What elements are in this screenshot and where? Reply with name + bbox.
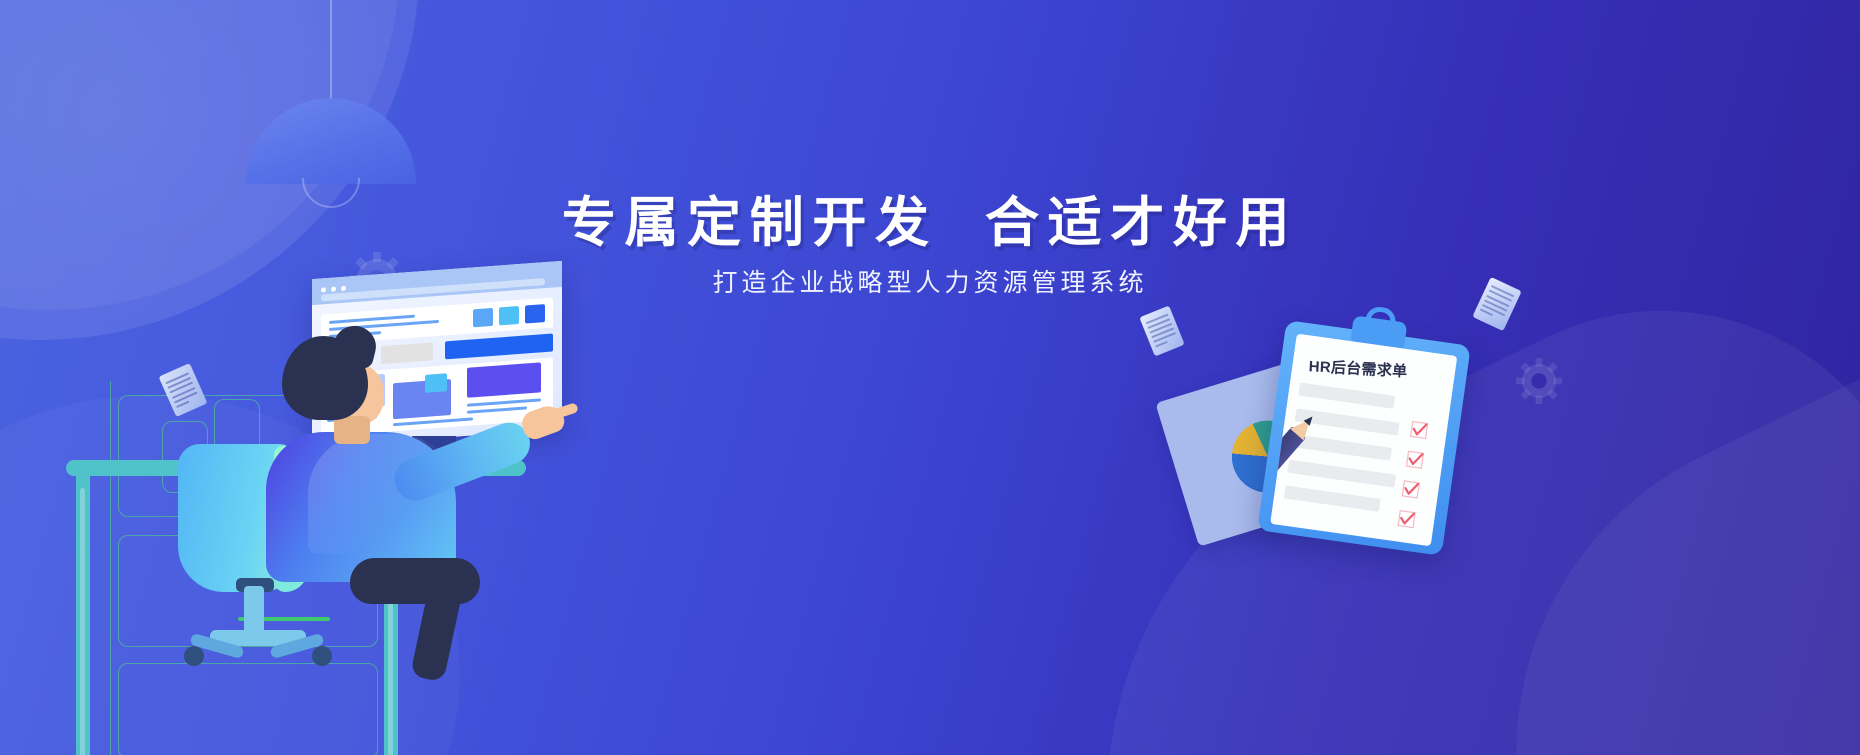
- blueprint-rect: [118, 663, 378, 755]
- desk-leg-highlight: [80, 488, 85, 755]
- checklist-line: [1287, 460, 1396, 488]
- clipboard-paper: HR后台需求单: [1270, 334, 1457, 547]
- checkmark-icon: [1405, 450, 1424, 469]
- document-icon: [1472, 277, 1521, 331]
- checklist-line: [1291, 434, 1392, 461]
- person-neck: [334, 416, 370, 444]
- checklist-line: [1298, 382, 1395, 408]
- clipboard-title: HR后台需求单: [1308, 355, 1439, 383]
- checklist-line: [1284, 485, 1381, 511]
- desk-scene-illustration: [60, 270, 700, 755]
- checkmark-icon: [1401, 480, 1420, 499]
- person-pointing-finger: [551, 402, 579, 420]
- person-illustration: [230, 290, 560, 620]
- gear-icon: [1516, 358, 1562, 404]
- hero-banner: 专属定制开发 合适才好用 打造企业战略型人力资源管理系统: [0, 0, 1860, 755]
- lamp-cord: [330, 0, 332, 100]
- clipboard-scene-illustration: HR后台需求单: [1180, 300, 1600, 640]
- lamp-shade: [246, 98, 416, 184]
- person-arm: [388, 417, 536, 507]
- hanging-lamp-icon: [246, 0, 416, 186]
- office-chair-wheel: [184, 646, 204, 666]
- blueprint-vline: [110, 381, 111, 755]
- document-icon: [1139, 306, 1184, 357]
- document-sheet: [1139, 306, 1184, 357]
- document-sheet: [1472, 277, 1521, 331]
- office-chair-wheel: [312, 646, 332, 666]
- checkmark-icon: [1410, 420, 1429, 439]
- checkmark-icon: [1397, 510, 1416, 529]
- clipboard: HR后台需求单: [1257, 306, 1473, 556]
